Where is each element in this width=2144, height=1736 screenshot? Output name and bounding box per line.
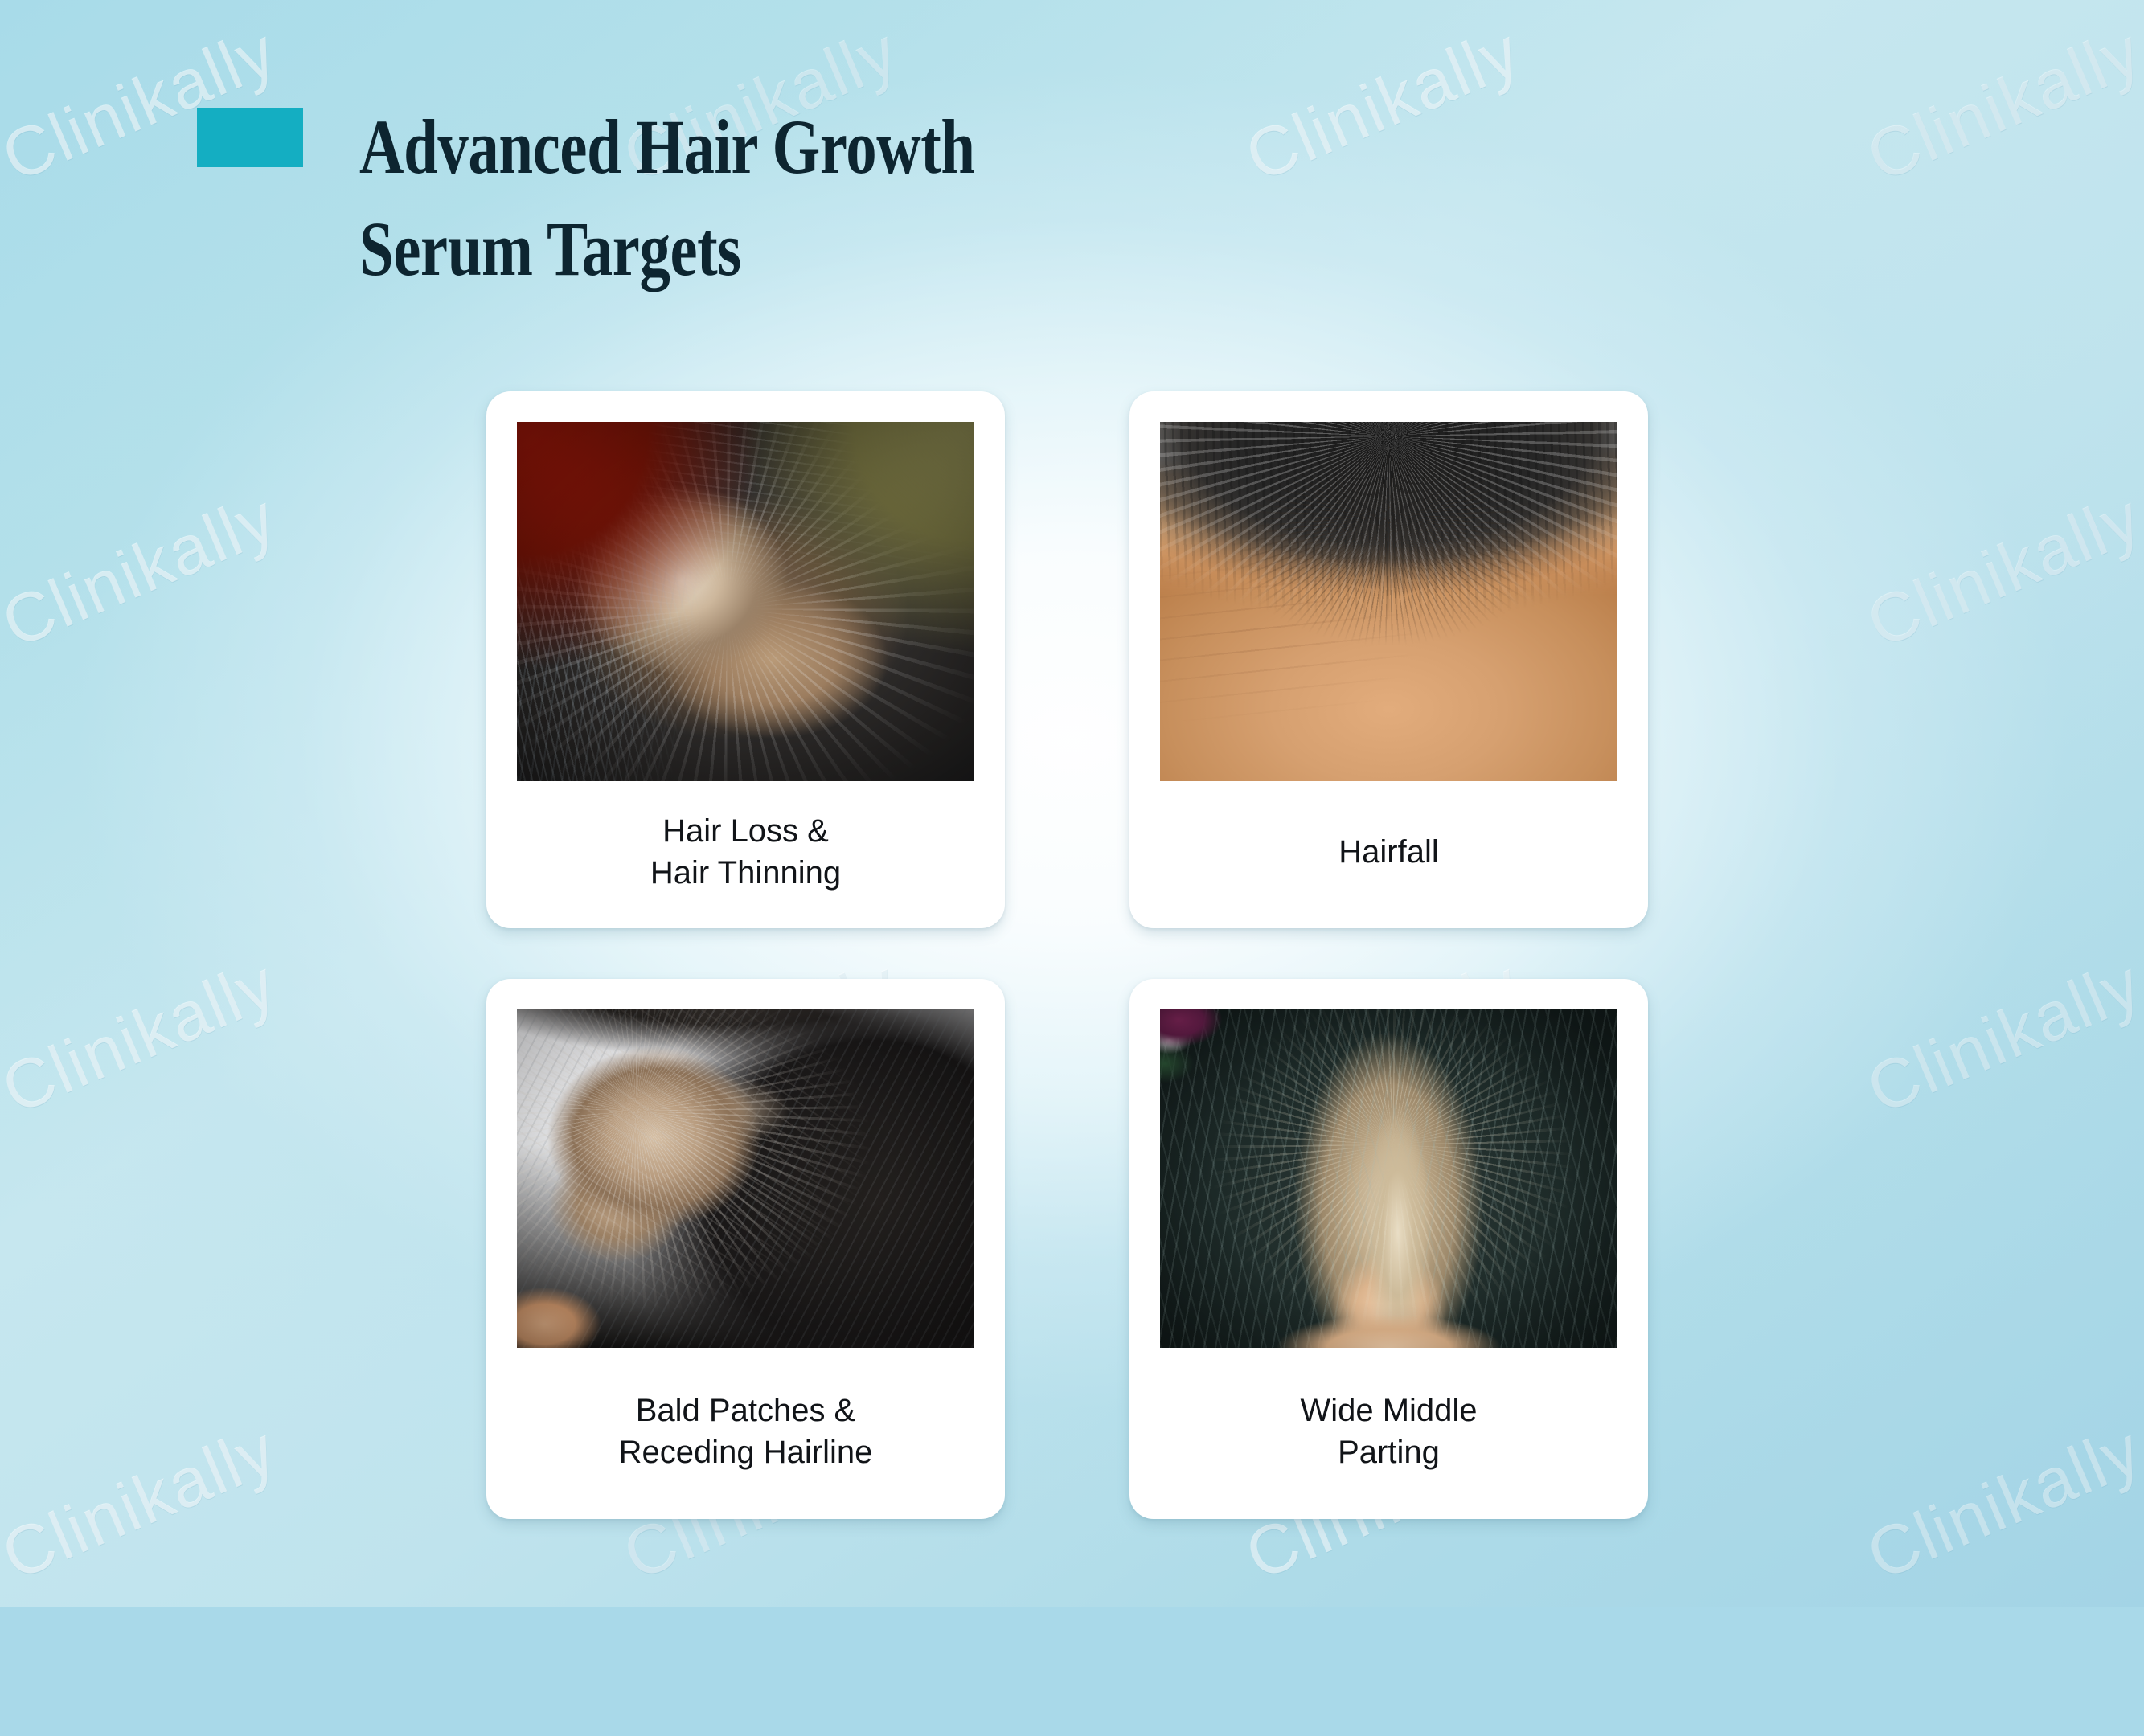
concern-caption: Bald Patches & Receding Hairline: [619, 1348, 873, 1519]
concern-photo-hairfall: [1160, 422, 1617, 781]
header: Advanced Hair Growth Serum Targets: [197, 96, 1129, 300]
photo-layer-forehead-lines: [1160, 422, 1617, 781]
concern-card-hairfall[interactable]: Hairfall: [1129, 391, 1648, 928]
concern-photo-wide-parting: [1160, 1009, 1617, 1348]
concern-caption: Wide Middle Parting: [1300, 1348, 1477, 1519]
concerns-grid: Hair Loss & Hair Thinning Hairfall Bald …: [486, 391, 1648, 1519]
concern-photo-bald-patches: [517, 1009, 974, 1348]
concern-card-wide-middle-parting[interactable]: Wide Middle Parting: [1129, 979, 1648, 1519]
photo-layer-vignette: [517, 1009, 974, 1348]
page-title: Advanced Hair Growth Serum Targets: [359, 96, 975, 300]
concern-caption: Hair Loss & Hair Thinning: [650, 781, 841, 928]
concern-photo-hair-loss-thinning: [517, 422, 974, 781]
concern-card-hair-loss-thinning[interactable]: Hair Loss & Hair Thinning: [486, 391, 1005, 928]
concern-card-bald-patches-receding-hairline[interactable]: Bald Patches & Receding Hairline: [486, 979, 1005, 1519]
photo-layer-vignette: [517, 422, 974, 781]
concern-caption: Hairfall: [1338, 781, 1438, 928]
accent-square-icon: [197, 108, 303, 167]
photo-layer-vignette: [1160, 1009, 1617, 1348]
